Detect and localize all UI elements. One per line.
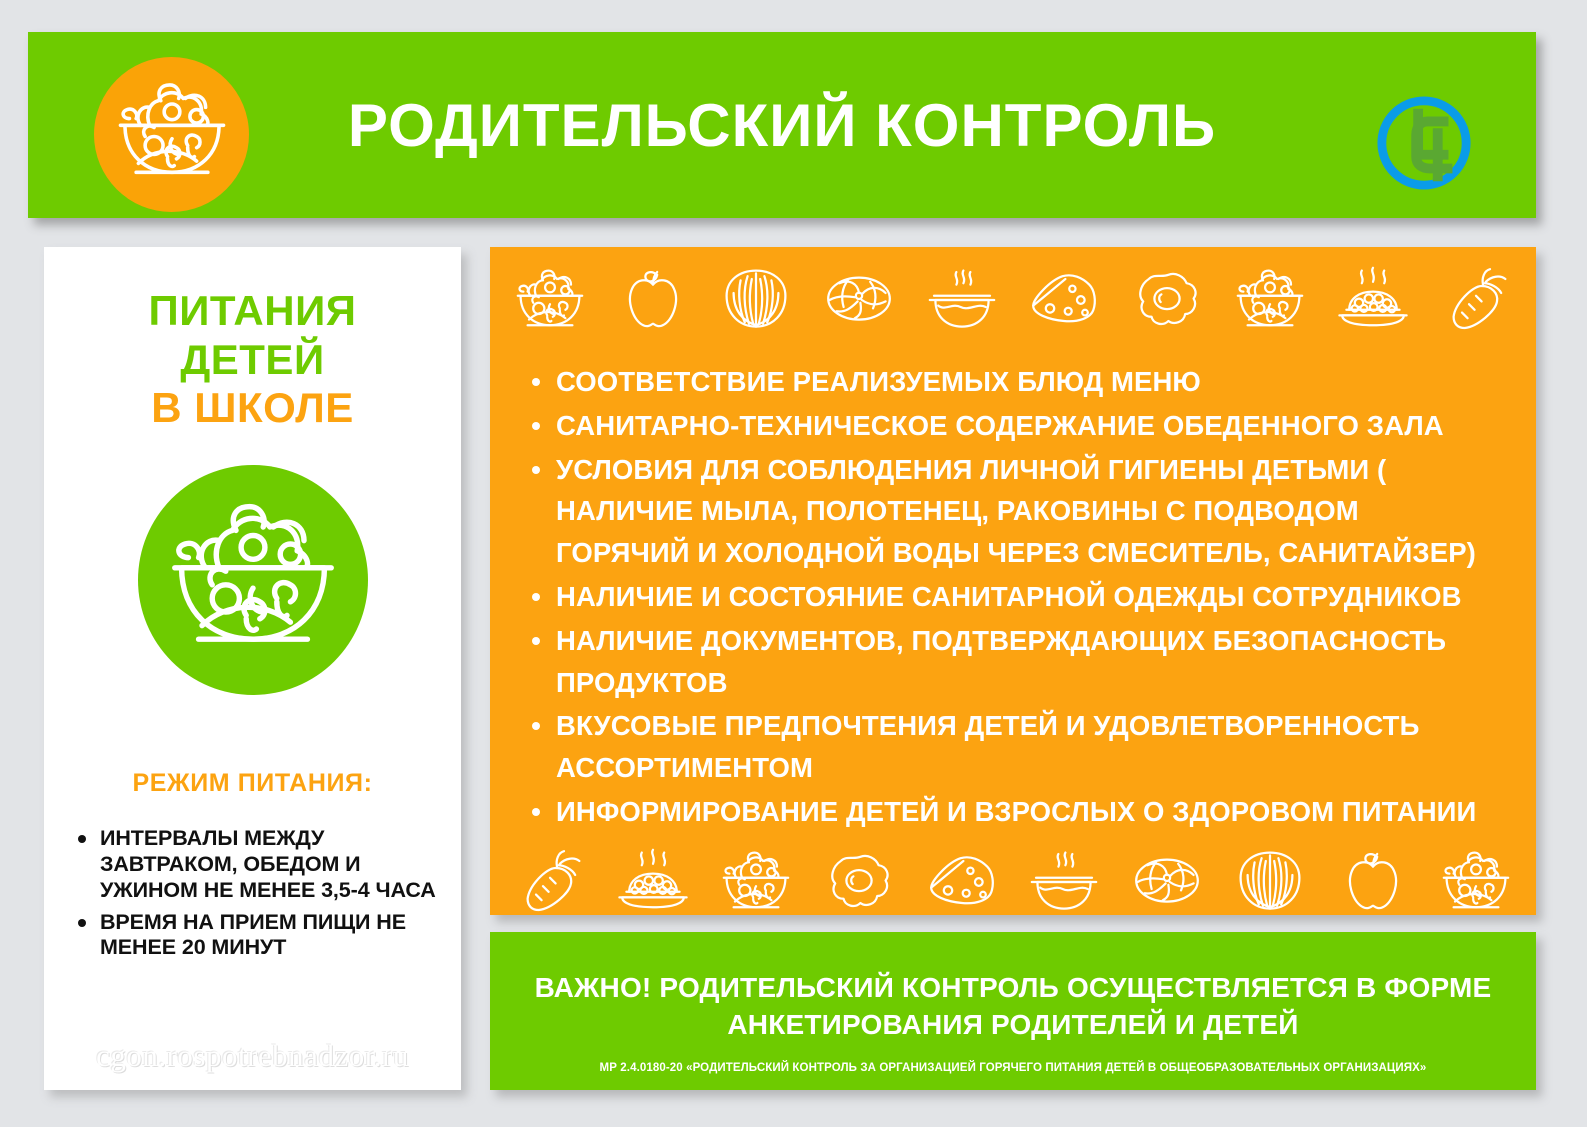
control-points-panel: СООТВЕТСТВИЕ РЕАЛИЗУЕМЫХ БЛЮД МЕНЮ САНИТ… xyxy=(490,247,1536,915)
carrot-icon xyxy=(1434,265,1518,335)
bread-bun-icon xyxy=(1125,847,1209,917)
salad-bowl-icon xyxy=(168,493,338,668)
page-title: РОДИТЕЛЬСКИЙ КОНТРОЛЬ xyxy=(28,91,1536,160)
header-banner: РОДИТЕЛЬСКИЙ КОНТРОЛЬ xyxy=(28,32,1536,218)
apple-icon xyxy=(1331,847,1415,917)
important-notice-text: ВАЖНО! РОДИТЕЛЬСКИЙ КОНТРОЛЬ ОСУЩЕСТВЛЯЕ… xyxy=(530,970,1496,1044)
title-line-1: ПИТАНИЯ xyxy=(66,287,439,336)
salad-bowl-icon xyxy=(508,265,592,335)
cheese-icon xyxy=(1022,265,1106,335)
soup-bowl-icon xyxy=(1022,847,1106,917)
regime-heading: РЕЖИМ ПИТАНИЯ: xyxy=(66,769,439,798)
left-panel-salad-circle xyxy=(138,465,368,695)
bottom-icon-row xyxy=(490,843,1536,921)
important-notice-banner: ВАЖНО! РОДИТЕЛЬСКИЙ КОНТРОЛЬ ОСУЩЕСТВЛЯЕ… xyxy=(490,932,1536,1090)
regime-list: ИНТЕРВАЛЫ МЕЖДУ ЗАВТРАКОМ, ОБЕДОМ И УЖИН… xyxy=(66,826,439,961)
porridge-plate-icon xyxy=(611,847,695,917)
top-icon-row xyxy=(490,261,1536,339)
list-item: ИНТЕРВАЛЫ МЕЖДУ ЗАВТРАКОМ, ОБЕДОМ И УЖИН… xyxy=(72,826,439,903)
bread-bun-icon xyxy=(817,265,901,335)
list-item: ВКУСОВЫЕ ПРЕДПОЧТЕНИЯ ДЕТЕЙ И УДОВЛЕТВОР… xyxy=(528,705,1500,789)
cabbage-icon xyxy=(1228,847,1312,917)
left-panel-title: ПИТАНИЯ ДЕТЕЙ В ШКОЛЕ xyxy=(66,287,439,433)
porridge-plate-icon xyxy=(1331,265,1415,335)
salad-bowl-icon xyxy=(1434,847,1518,917)
soup-bowl-icon xyxy=(920,265,1004,335)
cheese-icon xyxy=(920,847,1004,917)
list-item: УСЛОВИЯ ДЛЯ СОБЛЮДЕНИЯ ЛИЧНОЙ ГИГИЕНЫ ДЕ… xyxy=(528,449,1500,574)
control-points-list: СООТВЕТСТВИЕ РЕАЛИЗУЕМЫХ БЛЮД МЕНЮ САНИТ… xyxy=(490,361,1536,833)
title-line-2: ДЕТЕЙ xyxy=(66,336,439,385)
list-item: НАЛИЧИЕ И СОСТОЯНИЕ САНИТАРНОЙ ОДЕЖДЫ СО… xyxy=(528,576,1500,618)
apple-icon xyxy=(611,265,695,335)
list-item: ВРЕМЯ НА ПРИЕМ ПИЩИ НЕ МЕНЕЕ 20 МИНУТ xyxy=(72,910,439,962)
carrot-icon xyxy=(508,847,592,917)
list-item: СООТВЕТСТВИЕ РЕАЛИЗУЕМЫХ БЛЮД МЕНЮ xyxy=(528,361,1500,403)
left-info-panel: ПИТАНИЯ ДЕТЕЙ В ШКОЛЕ РЕЖИМ ПИТАНИЯ: ИНТ… xyxy=(44,247,461,1090)
salad-bowl-icon xyxy=(1228,265,1312,335)
regulation-reference: МР 2.4.0180-20 «РОДИТЕЛЬСКИЙ КОНТРОЛЬ ЗА… xyxy=(530,1062,1496,1076)
cabbage-icon xyxy=(714,265,798,335)
list-item: НАЛИЧИЕ ДОКУМЕНТОВ, ПОДТВЕРЖДАЮЩИХ БЕЗОП… xyxy=(528,620,1500,704)
fried-egg-icon xyxy=(1125,265,1209,335)
watermark: cgon.rospotrebnadzor.ru xyxy=(44,1038,461,1074)
cgon-logo-icon xyxy=(1375,94,1473,192)
list-item: САНИТАРНО-ТЕХНИЧЕСКОЕ СОДЕРЖАНИЕ ОБЕДЕНН… xyxy=(528,405,1500,447)
salad-bowl-icon xyxy=(714,847,798,917)
list-item: ИНФОРМИРОВАНИЕ ДЕТЕЙ И ВЗРОСЛЫХ О ЗДОРОВ… xyxy=(528,791,1500,833)
title-line-3: В ШКОЛЕ xyxy=(66,384,439,433)
fried-egg-icon xyxy=(817,847,901,917)
